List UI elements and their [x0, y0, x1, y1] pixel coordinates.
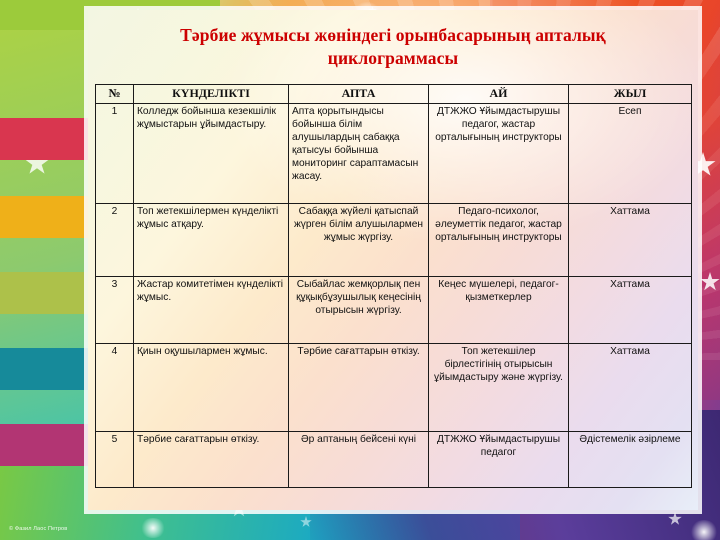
cell-monthly: Топ жетекшілер бірлестігінің отырысын ұй…: [429, 344, 569, 432]
table-header-row: № КҮНДЕЛІКТІ АПТА АЙ ЖЫЛ: [96, 85, 692, 104]
table-row: 5 Тәрбие сағаттарын өткізу. Әр аптаның б…: [96, 432, 692, 488]
cell-yearly: Хаттама: [569, 344, 692, 432]
table-row: 1 Колледж бойынша кезекшілік жұмыстарын …: [96, 104, 692, 204]
cell-monthly: ДТЖЖО Ұйымдастырушы педагог, жастар орта…: [429, 104, 569, 204]
cell-weekly: Сыбайлас жемқорлық пен құқықбұзушылық ке…: [289, 277, 429, 344]
cell-number: 1: [96, 104, 134, 204]
cell-number: 3: [96, 277, 134, 344]
cell-daily: Жастар комитетімен күнделікті жұмыс.: [134, 277, 289, 344]
table-row: 2 Топ жетекшілермен күнделікті жұмыс атқ…: [96, 204, 692, 277]
cell-number: 4: [96, 344, 134, 432]
cell-daily: Қиын оқушылармен жұмыс.: [134, 344, 289, 432]
column-header-weekly: АПТА: [289, 85, 429, 104]
cell-number: 5: [96, 432, 134, 488]
presentation-slide: Тәрбие жұмысы жөніндегі орынбасарының ап…: [0, 0, 720, 540]
cell-daily: Топ жетекшілермен күнделікті жұмыс атқар…: [134, 204, 289, 277]
column-header-number: №: [96, 85, 134, 104]
cell-daily: Колледж бойынша кезекшілік жұмыстарын ұй…: [134, 104, 289, 204]
cell-weekly: Әр аптаның бейсені күні: [289, 432, 429, 488]
cell-number: 2: [96, 204, 134, 277]
copyright-credit: © Фазил Лаос Петров: [9, 526, 67, 532]
cyclogram-table: № КҮНДЕЛІКТІ АПТА АЙ ЖЫЛ 1 Колледж бойын…: [95, 84, 692, 488]
cell-weekly: Апта қорытындысы бойынша білім алушылард…: [289, 104, 429, 204]
cell-yearly: Хаттама: [569, 277, 692, 344]
cell-daily: Тәрбие сағаттарын өткізу.: [134, 432, 289, 488]
cell-monthly: ДТЖЖО Ұйымдастырушы педагог: [429, 432, 569, 488]
cell-yearly: Хаттама: [569, 204, 692, 277]
content-panel: Тәрбие жұмысы жөніндегі орынбасарының ап…: [88, 10, 698, 510]
table-header: № КҮНДЕЛІКТІ АПТА АЙ ЖЫЛ: [96, 85, 692, 104]
column-header-daily: КҮНДЕЛІКТІ: [134, 85, 289, 104]
cell-yearly: Әдістемелік әзірлеме: [569, 432, 692, 488]
cell-monthly: Кеңес мүшелері, педагог-қызметкерлер: [429, 277, 569, 344]
cell-yearly: Есеп: [569, 104, 692, 204]
column-header-monthly: АЙ: [429, 85, 569, 104]
cell-weekly: Тәрбие сағаттарын өткізу.: [289, 344, 429, 432]
column-header-yearly: ЖЫЛ: [569, 85, 692, 104]
slide-title: Тәрбие жұмысы жөніндегі орынбасарының ап…: [122, 24, 664, 70]
cell-monthly: Педаго-психолог, әлеуметтік педагог, жас…: [429, 204, 569, 277]
table-body: 1 Колледж бойынша кезекшілік жұмыстарын …: [96, 104, 692, 488]
table-row: 4 Қиын оқушылармен жұмыс. Тәрбие сағатта…: [96, 344, 692, 432]
table-row: 3 Жастар комитетімен күнделікті жұмыс. С…: [96, 277, 692, 344]
cell-weekly: Сабаққа жүйелі қатыспай жүрген білім алу…: [289, 204, 429, 277]
